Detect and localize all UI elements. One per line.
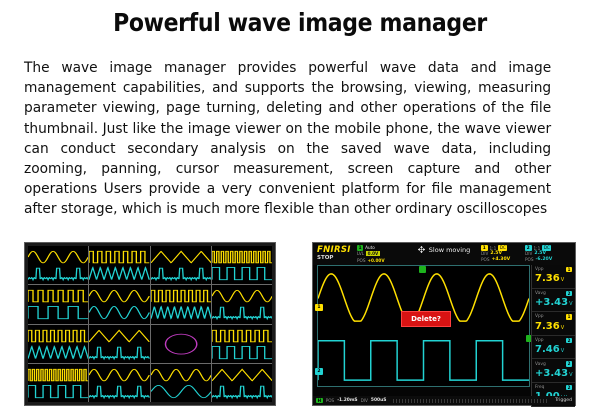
channel-1-div-value: 2.5V xyxy=(490,251,502,256)
measurement-cell-4[interactable]: Vpp 2 7.46V xyxy=(532,336,575,360)
thumbnail-trace xyxy=(89,364,149,402)
center-header-label: Slow moving xyxy=(429,246,471,254)
channel-1-badge: 1 xyxy=(481,245,488,251)
measurement-channel-1: 1 xyxy=(566,267,572,272)
timebase-pos-value: -1.20mS xyxy=(337,398,357,403)
scope-top-bar: FNIRSI STOP 1 Auto LVL 0.0V POS +0.00V xyxy=(313,243,575,265)
channel-1-div-label: DIV xyxy=(481,251,488,256)
thumbnail-trace xyxy=(212,364,272,402)
measurement-unit-2: V xyxy=(569,301,572,307)
channel-2-coupling: DC xyxy=(542,245,551,250)
measurement-channel-5: 2 xyxy=(566,361,572,366)
thumbnail-trace xyxy=(151,285,211,323)
measurement-unit-5: V xyxy=(569,372,572,378)
measurement-channel-2: 2 xyxy=(566,291,572,296)
scope-status-bar: H POS -1.20mS DIV 500uS Trigged xyxy=(313,396,575,405)
thumbnail-cell-6[interactable] xyxy=(89,285,149,323)
thumbnail-cell-9[interactable] xyxy=(28,325,88,363)
oscilloscope-screenshot-figure: FNIRSI STOP 1 Auto LVL 0.0V POS +0.00V xyxy=(312,242,576,406)
thumbnail-trace xyxy=(28,325,88,363)
thumbnail-cell-1[interactable] xyxy=(28,246,88,284)
measurement-label-5: Vavg xyxy=(535,362,546,367)
timebase-div-value: 500uS xyxy=(371,398,386,403)
thumbnail-trace xyxy=(89,325,149,363)
thumbnail-trace xyxy=(212,246,272,284)
channel-1-ground-marker[interactable]: 1 xyxy=(315,304,323,311)
timebase-div-label: DIV xyxy=(361,398,368,403)
measurement-cell-2[interactable]: Vavg 2 +3.43V xyxy=(532,289,575,313)
measurement-label-2: Vavg xyxy=(535,291,546,296)
run-state-label: STOP xyxy=(317,255,333,261)
thumbnail-cell-5[interactable] xyxy=(28,285,88,323)
thumbnail-trace xyxy=(89,246,149,284)
trigger-state-label: Trigged xyxy=(555,398,572,403)
move-icon xyxy=(418,246,425,255)
channel-1-probe: 1:1 xyxy=(490,246,497,251)
channel-2-pos-row: POS -6.20V xyxy=(525,257,565,263)
thumbnail-trace xyxy=(212,325,272,363)
measurement-value-2: +3.43V xyxy=(535,297,572,310)
thumbnail-cell-11[interactable] xyxy=(151,325,211,363)
measurement-channel-6: 2 xyxy=(566,385,572,390)
thumbnail-trace xyxy=(151,246,211,284)
channel-1-settings-block[interactable]: 1 1:1 DC DIV 2.5V POS +4.30V xyxy=(481,245,521,263)
measurement-unit-1: V xyxy=(561,277,564,283)
thumbnail-cell-13[interactable] xyxy=(28,364,88,402)
channel-2-ground-marker[interactable]: 2 xyxy=(315,368,323,375)
thumbnail-cell-16[interactable] xyxy=(212,364,272,402)
thumbnail-cell-7[interactable] xyxy=(151,285,211,323)
thumbnail-grid-figure xyxy=(24,242,276,406)
delete-confirm-dialog[interactable]: Delete? xyxy=(401,311,451,327)
scope-screen: FNIRSI STOP 1 Auto LVL 0.0V POS +0.00V xyxy=(313,243,575,405)
channel-2-div-value: 2.5V xyxy=(534,251,546,256)
channel-2-probe: 1:1 xyxy=(534,246,541,251)
measurement-label-4: Vpp xyxy=(535,338,544,343)
channel-1-coupling: DC xyxy=(498,245,507,250)
channel-2-trace xyxy=(318,341,529,380)
measurement-label-6: Freq xyxy=(535,385,544,390)
thumbnail-cell-8[interactable] xyxy=(212,285,272,323)
measurement-label-3: Vpp xyxy=(535,314,544,319)
thumbnail-cell-10[interactable] xyxy=(89,325,149,363)
timebase-ruler xyxy=(393,399,548,403)
measurement-header-6: Freq 2 xyxy=(535,385,572,390)
measurement-label-1: Vpp xyxy=(535,267,544,272)
timebase-pos-label: POS xyxy=(326,398,334,403)
thumbnail-trace xyxy=(212,285,272,323)
measurement-channel-4: 2 xyxy=(566,338,572,343)
page-title: Powerful wave image manager xyxy=(36,8,564,37)
trigger-pos-value: +0.00V xyxy=(367,258,384,263)
trigger-pos-row[interactable]: POS +0.00V xyxy=(357,257,403,263)
measurement-header-4: Vpp 2 xyxy=(535,338,572,343)
channel-2-pos-value: -6.20V xyxy=(535,257,552,262)
measurement-cell-3[interactable]: Vpp 1 7.36V xyxy=(532,312,575,336)
channel-2-settings-block[interactable]: 2 1:1 DC DIV 2.5V POS -6.20V xyxy=(525,245,565,263)
measurement-cell-5[interactable]: Vavg 2 +3.43V xyxy=(532,359,575,383)
measurement-header-5: Vavg 2 xyxy=(535,361,572,366)
thumbnail-trace xyxy=(28,364,88,402)
body-paragraph: The wave image manager provides powerful… xyxy=(24,58,551,220)
measurement-value-5: +3.43V xyxy=(535,368,572,381)
timebase-badge: H xyxy=(316,398,323,404)
trigger-position-marker[interactable] xyxy=(419,266,426,273)
measurement-value-1: 7.36V xyxy=(535,273,572,286)
measurement-unit-4: V xyxy=(561,348,564,354)
thumbnail-trace xyxy=(28,285,88,323)
thumbnail-trace xyxy=(151,325,211,363)
thumbnail-cell-14[interactable] xyxy=(89,364,149,402)
thumbnail-cell-4[interactable] xyxy=(212,246,272,284)
channel-1-pos-row: POS +4.30V xyxy=(481,257,521,263)
measurement-value-4: 7.46V xyxy=(535,344,572,357)
wave-file-thumbnail-grid[interactable] xyxy=(28,246,272,402)
channel-2-div-label: DIV xyxy=(525,251,532,256)
measurement-cell-1[interactable]: Vpp 1 7.36V xyxy=(532,265,575,289)
thumbnail-cell-2[interactable] xyxy=(89,246,149,284)
measurement-header-1: Vpp 1 xyxy=(535,267,572,272)
measurement-header-3: Vpp 1 xyxy=(535,314,572,319)
channel-2-badge: 2 xyxy=(525,245,532,251)
thumbnail-cell-12[interactable] xyxy=(212,325,272,363)
slide-root: Powerful wave image manager The wave ima… xyxy=(0,0,600,418)
thumbnail-cell-3[interactable] xyxy=(151,246,211,284)
measurement-value-3: 7.36V xyxy=(535,321,572,334)
channel-2-pos-label: POS xyxy=(525,257,533,262)
thumbnail-trace xyxy=(89,285,149,323)
trigger-pos-label: POS xyxy=(357,258,365,263)
measurement-header-2: Vavg 2 xyxy=(535,291,572,296)
channel-1-pos-label: POS xyxy=(481,257,489,262)
thumbnail-trace xyxy=(28,246,88,284)
thumbnail-trace xyxy=(151,364,211,402)
measurement-unit-3: V xyxy=(561,325,564,331)
thumbnail-cell-15[interactable] xyxy=(151,364,211,402)
measurement-panel[interactable]: Vpp 1 7.36V Vavg 2 +3.43V Vpp 1 7.36V Vp… xyxy=(531,265,575,407)
channel-1-pos-value: +4.30V xyxy=(491,257,510,262)
measurement-channel-3: 1 xyxy=(566,314,572,319)
